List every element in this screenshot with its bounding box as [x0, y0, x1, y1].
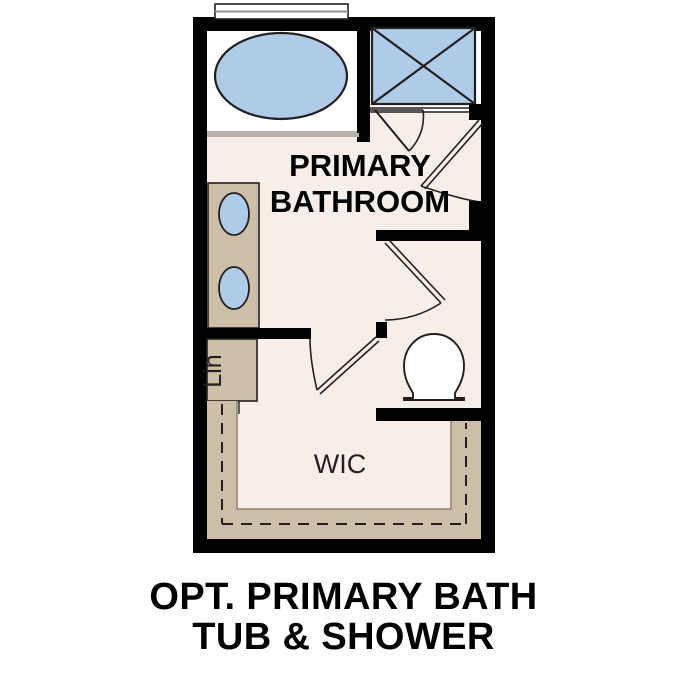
bathtub — [215, 33, 347, 119]
caption-line-1: OPT. PRIMARY BATH — [0, 578, 687, 618]
window-over-tub — [215, 4, 348, 19]
primary-bathroom-label-line1: PRIMARY — [289, 148, 431, 183]
toilet — [404, 334, 464, 400]
vanity-cabinet — [208, 183, 259, 328]
plan-caption: OPT. PRIMARY BATH TUB & SHOWER — [0, 578, 687, 657]
tub-alcove-bottom-wall — [207, 133, 359, 137]
vanity-sink-right — [219, 267, 249, 309]
vanity-sink-left — [219, 193, 249, 235]
walk-in-closet-label: WIC — [314, 449, 366, 479]
caption-line-2: TUB & SHOWER — [0, 618, 687, 658]
linen-closet-label: Lin — [199, 354, 227, 387]
interior-wall-bathroom-wic — [193, 328, 311, 339]
floor-plan-page: PRIMARY BATHROOM WIC Lin OPT. PRIMARY BA… — [0, 0, 687, 687]
entry-door-jamb-lower — [469, 201, 481, 231]
shower-stall — [370, 28, 481, 112]
entry-door-jamb-upper — [469, 104, 481, 120]
primary-bathroom-label-line2: BATHROOM — [270, 184, 450, 219]
tub-shower-divider-wall — [357, 17, 370, 142]
